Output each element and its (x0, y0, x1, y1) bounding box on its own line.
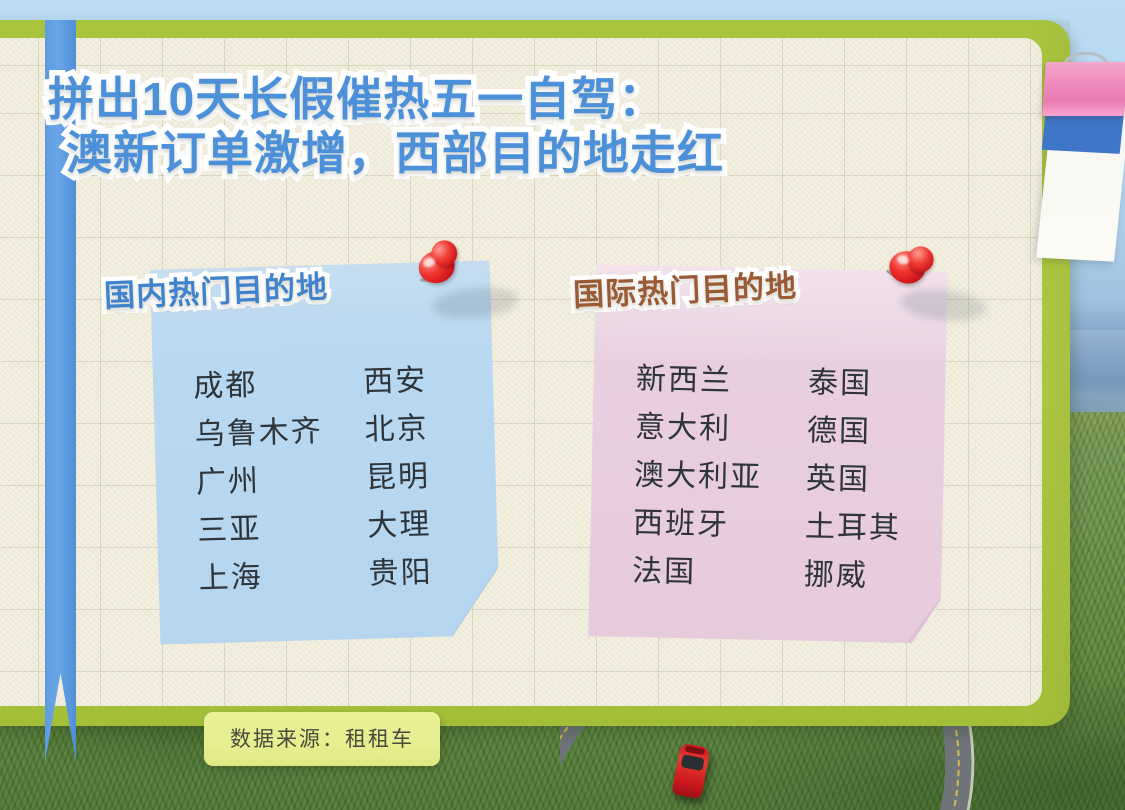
list-item: 乌鲁木齐 (194, 414, 365, 453)
list-item: 西班牙 (633, 507, 806, 545)
data-source-tag: 数据来源：租租车 (204, 712, 440, 766)
list-item: 德国 (807, 414, 958, 451)
list-item: 广州 (196, 462, 367, 501)
binder-clip-body (1042, 62, 1125, 116)
list-item: 意大利 (635, 411, 808, 449)
binder-clip-icon (1044, 52, 1125, 124)
title-line-2: 澳新订单激增，西部目的地走红 (66, 126, 724, 180)
list-item: 上海 (198, 558, 369, 597)
list-item: 新西兰 (636, 363, 809, 401)
list-item: 澳大利亚 (634, 459, 807, 497)
international-section-heading: 国际热门目的地 (572, 260, 798, 314)
list-item: 英国 (806, 462, 957, 499)
international-destination-list: 新西兰 泰国 意大利 德国 澳大利亚 英国 西班牙 土耳其 法国 挪威 (632, 363, 959, 596)
list-item: 昆明 (366, 458, 517, 496)
domestic-destination-list: 成都 西安 乌鲁木齐 北京 广州 昆明 三亚 大理 上海 贵阳 (193, 362, 519, 597)
infographic-canvas: 拼出10天长假催热五一自驾： 澳新订单激增，西部目的地走红 国内热门目的地 成都… (0, 0, 1125, 810)
page-title: 拼出10天长假催热五一自驾： 澳新订单激增，西部目的地走红 (48, 72, 724, 181)
list-item: 大理 (367, 506, 518, 544)
list-item: 贵阳 (368, 554, 519, 592)
list-item: 法国 (632, 555, 805, 593)
list-item: 挪威 (804, 558, 955, 595)
list-item: 成都 (193, 366, 364, 405)
international-note-corner-curl (906, 597, 941, 644)
title-line-1: 拼出10天长假催热五一自驾： (48, 72, 724, 126)
list-item: 土耳其 (805, 510, 956, 547)
list-item: 泰国 (808, 366, 959, 403)
list-item: 西安 (363, 362, 514, 400)
domestic-section-heading: 国内热门目的地 (103, 261, 329, 315)
list-item: 三亚 (197, 510, 368, 549)
list-item: 北京 (364, 410, 515, 448)
